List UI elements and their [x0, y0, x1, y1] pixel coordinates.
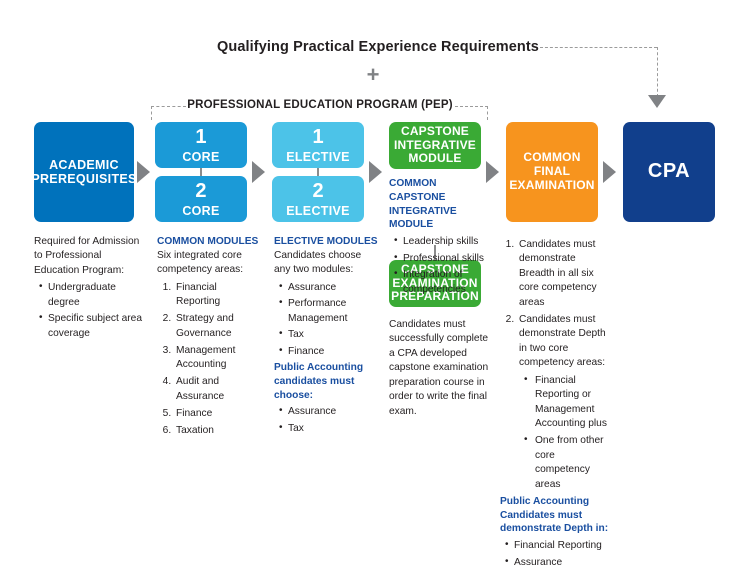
box-core-2-label: CORE — [182, 204, 219, 219]
elective-public-accounting-bullets: Assurance Tax — [274, 405, 378, 436]
box-core-2-number: 2 — [182, 180, 219, 203]
common-modules-intro: Six integrated core competency areas: — [157, 249, 262, 278]
box-core-1-number: 1 — [182, 126, 219, 149]
list-item: Tax — [288, 422, 378, 436]
list-item: Leadership skills — [403, 235, 495, 249]
academic-bullets: Undergraduate degree Specific subject ar… — [34, 281, 144, 341]
list-item: Finance — [174, 407, 262, 421]
text-academic-prerequisites: Required for Admission to Professional E… — [34, 235, 144, 343]
list-item: Tax — [288, 328, 378, 342]
academic-intro: Required for Admission to Professional E… — [34, 235, 144, 278]
qpe-connector-horizontal — [540, 47, 657, 48]
list-item: Audit and Assurance — [174, 375, 262, 404]
final-exam-item-2-text: Candidates must demonstrate Depth in two… — [519, 314, 606, 368]
text-common-capstone-integrative-module: COMMON CAPSTONE INTEGRATIVE MODULE Leade… — [389, 177, 495, 299]
common-modules-list: Financial Reporting Strategy and Governa… — [157, 281, 262, 438]
box-academic-prerequisites[interactable]: ACADEMIC PREREQUISITES — [34, 122, 134, 222]
list-item: Financial Reporting or Management Accoun… — [533, 374, 610, 432]
core-boxes-connector — [200, 168, 202, 176]
box-elective-2-number: 2 — [286, 180, 350, 203]
plus-icon: + — [362, 64, 384, 86]
box-cpa[interactable]: CPA — [623, 122, 715, 222]
final-exam-public-accounting-bullets: Financial Reporting Assurance — [500, 539, 610, 570]
list-item: Professional skills — [403, 252, 495, 266]
common-modules-heading: COMMON MODULES — [157, 235, 262, 249]
box-elective-2[interactable]: 2 ELECTIVE — [272, 176, 364, 222]
text-capstone-examination-preparation: Candidates must successfully complete a … — [389, 318, 489, 419]
box-academic-prerequisites-label: ACADEMIC PREREQUISITES — [31, 158, 136, 187]
elective-modules-intro: Candidates choose any two modules: — [274, 249, 378, 278]
box-capstone-integrative-module[interactable]: CAPSTONE INTEGRATIVE MODULE — [389, 122, 481, 169]
list-item: Management Accounting — [174, 344, 262, 373]
list-item: Assurance — [514, 556, 610, 570]
qpe-arrow-down-icon — [648, 95, 666, 108]
list-item: Specific subject area coverage — [48, 312, 144, 341]
list-item: Undergraduate degree — [48, 281, 144, 310]
box-cpa-label: CPA — [648, 160, 690, 183]
box-elective-1[interactable]: 1 ELECTIVE — [272, 122, 364, 168]
elective-modules-bullets: Assurance Performance Management Tax Fin… — [274, 281, 378, 359]
box-core-1[interactable]: 1 CORE — [155, 122, 247, 168]
capstone-integrative-heading: COMMON CAPSTONE INTEGRATIVE MODULE — [389, 177, 495, 232]
list-item: One from other core competency areas — [533, 434, 610, 492]
pep-bracket-line-left — [151, 106, 186, 107]
box-core-1-label: CORE — [182, 150, 219, 165]
list-item: Financial Reporting — [514, 539, 610, 553]
elective-modules-heading: ELECTIVE MODULES — [274, 235, 378, 249]
box-capstone-integrative-module-label: CAPSTONE INTEGRATIVE MODULE — [394, 125, 476, 167]
list-item: Performance Management — [288, 297, 378, 326]
text-common-final-examination: Candidates must demonstrate Breadth in a… — [500, 235, 610, 572]
final-exam-public-accounting-heading: Public Accounting Candidates must demons… — [500, 495, 610, 536]
capstone-prep-body: Candidates must successfully complete a … — [389, 318, 489, 419]
list-item: Taxation — [174, 424, 262, 438]
final-exam-sub-bullets: Financial Reporting or Management Accoun… — [519, 374, 610, 492]
flow-arrow-right-icon-3 — [369, 161, 382, 183]
list-item: Assurance — [288, 281, 378, 295]
diagram-canvas: Qualifying Practical Experience Requirem… — [0, 0, 750, 480]
list-item: Candidates must demonstrate Depth in two… — [517, 313, 610, 492]
elective-public-accounting-heading: Public Accounting candidates must choose… — [274, 361, 378, 402]
qualifying-practical-experience-title: Qualifying Practical Experience Requirem… — [208, 39, 548, 55]
box-common-final-examination[interactable]: COMMON FINAL EXAMINATION — [506, 122, 598, 222]
list-item: Integration of competencies — [403, 268, 495, 297]
list-item: Finance — [288, 345, 378, 359]
pep-bracket-label: PROFESSIONAL EDUCATION PROGRAM (PEP) — [185, 99, 455, 111]
list-item: Assurance — [288, 405, 378, 419]
box-core-2[interactable]: 2 CORE — [155, 176, 247, 222]
pep-bracket-line-right — [455, 106, 488, 107]
flow-arrow-right-icon-5 — [603, 161, 616, 183]
flow-arrow-right-icon-1 — [137, 161, 150, 183]
flow-arrow-right-icon-2 — [252, 161, 265, 183]
capstone-integrative-bullets: Leadership skills Professional skills In… — [389, 235, 495, 297]
box-elective-1-number: 1 — [286, 126, 350, 149]
box-common-final-examination-label: COMMON FINAL EXAMINATION — [509, 151, 594, 193]
list-item: Financial Reporting — [174, 281, 262, 310]
text-common-modules: COMMON MODULES Six integrated core compe… — [157, 235, 262, 441]
pep-bracket-tick-right — [487, 106, 488, 120]
box-elective-2-label: ELECTIVE — [286, 204, 350, 219]
list-item: Candidates must demonstrate Breadth in a… — [517, 238, 610, 310]
text-elective-modules: ELECTIVE MODULES Candidates choose any t… — [274, 235, 378, 438]
qpe-connector-vertical — [657, 47, 658, 97]
elective-boxes-connector — [317, 168, 319, 176]
box-elective-1-label: ELECTIVE — [286, 150, 350, 165]
final-exam-list: Candidates must demonstrate Breadth in a… — [500, 238, 610, 492]
pep-bracket-tick-left — [151, 106, 152, 120]
list-item: Strategy and Governance — [174, 312, 262, 341]
